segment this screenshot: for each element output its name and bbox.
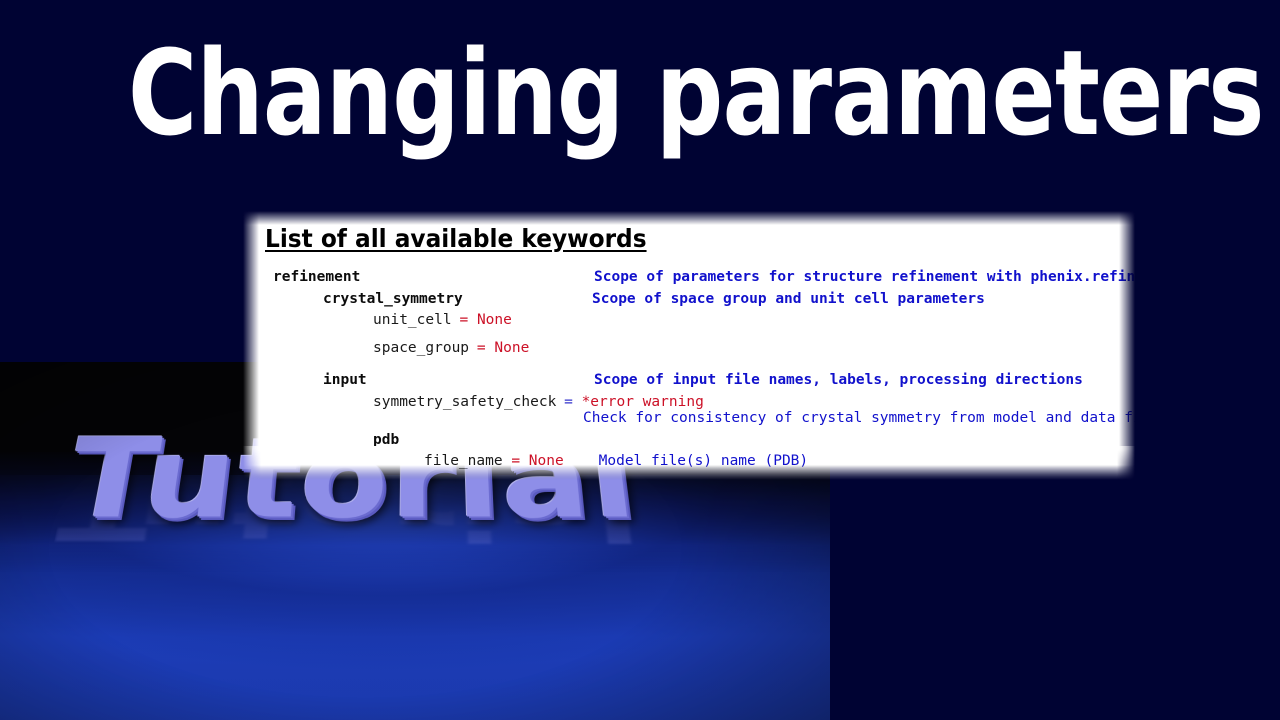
keyword-value: None [494, 340, 529, 356]
keyword-help-text: Check for consistency of crystal symmetr… [583, 410, 1135, 426]
keyword-name: refinement [273, 269, 360, 285]
filename-equals: = [511, 453, 528, 469]
keyword-help-text: Scope of space group and unit cell param… [592, 291, 985, 307]
keyword-list-heading: List of all available keywords [265, 224, 647, 253]
keyword-assignment: = None [477, 340, 529, 356]
keyword-name: input [323, 372, 367, 388]
keyword-name: unit_cell [373, 312, 452, 328]
keyword-name: space_group [373, 340, 469, 356]
keyword-equals: = [459, 312, 476, 328]
keyword-help-text: Scope of input file names, labels, proce… [594, 372, 1083, 388]
keyword-equals: = [564, 394, 581, 410]
filename-value: None [529, 453, 599, 469]
keyword-equals: = [477, 340, 494, 356]
page-title: Changing parameters [128, 34, 1152, 152]
keyword-help-text: Scope of parameters for structure refine… [594, 269, 1135, 285]
keyword-name: crystal_symmetry [323, 291, 463, 307]
keyword-list-panel: List of all available keywords refinemen… [243, 211, 1135, 467]
filename-key: file_name [424, 453, 511, 469]
filename-row-strip: file_name = None Model file(s) name (PDB… [243, 446, 1135, 480]
keyword-value: *error warning [582, 394, 704, 410]
filename-row: file_name = None Model file(s) name (PDB… [424, 453, 808, 469]
keyword-name: symmetry_safety_check [373, 394, 556, 410]
presentation-slide: Changing parameters Tutorial Tutorial Li… [0, 0, 1280, 720]
keyword-assignment: = None [459, 312, 511, 328]
filename-help-text: Model file(s) name (PDB) [599, 453, 809, 469]
keyword-value: None [477, 312, 512, 328]
keyword-list-body: List of all available keywords refinemen… [243, 211, 1135, 467]
keyword-assignment: = *error warning [564, 394, 704, 410]
